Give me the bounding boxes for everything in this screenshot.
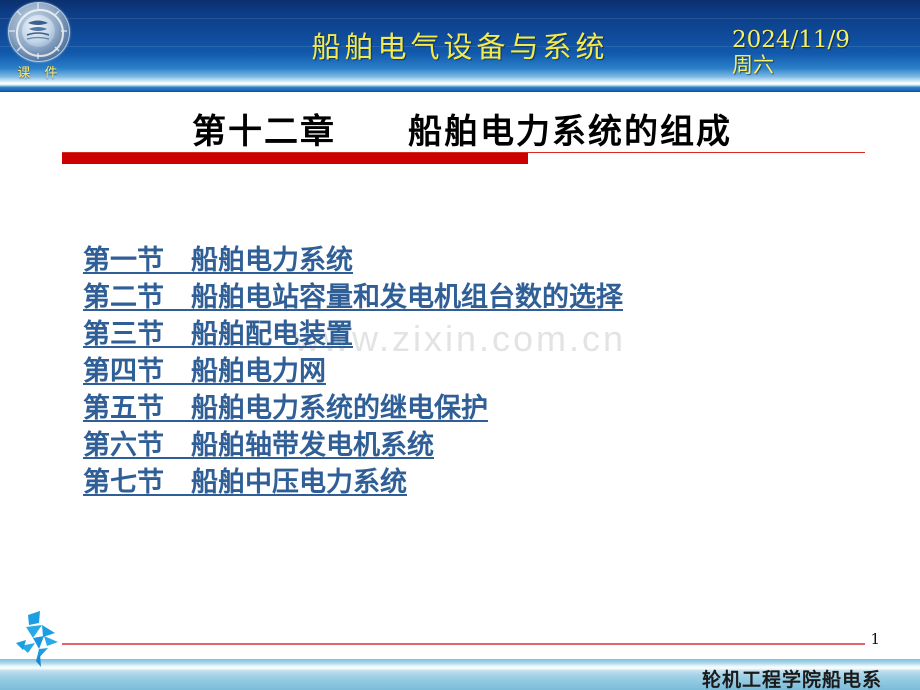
- page-number: 1: [870, 630, 880, 648]
- page-title: 第十二章 船舶电力系统的组成: [62, 104, 862, 153]
- section-link-5[interactable]: 第五节 船舶电力系统的继电保护: [83, 391, 488, 427]
- section-link-7[interactable]: 第七节 船舶中压电力系统: [83, 465, 407, 501]
- header-highlight-line-1: [0, 18, 920, 19]
- footer-rule: [62, 643, 865, 645]
- header-date: 2024/11/9 周六: [732, 28, 912, 78]
- department-name: 轮机工程学院船电系: [702, 665, 882, 690]
- runner-tangram-logo: [6, 605, 72, 671]
- section-link-3[interactable]: 第三节 船舶配电装置: [83, 317, 353, 353]
- section-link-2[interactable]: 第二节 船舶电站容量和发电机组台数的选择: [83, 280, 623, 316]
- section-link-list: 第一节 船舶电力系统 第二节 船舶电站容量和发电机组台数的选择 第三节 船舶配电…: [83, 243, 873, 502]
- header-day-of-week: 周六: [732, 53, 912, 78]
- presentation-slide: 课 件 船舶电气设备与系统 2024/11/9 周六 第十二章 船舶电力系统的组…: [0, 0, 920, 690]
- section-link-6[interactable]: 第六节 船舶轴带发电机系统: [83, 428, 434, 464]
- university-emblem: [8, 2, 70, 62]
- emblem-wave-mark: [24, 16, 52, 44]
- title-accent-bar: [62, 153, 528, 164]
- section-link-1[interactable]: 第一节 船舶电力系统: [83, 243, 353, 279]
- header-date-value: 2024/11/9: [732, 27, 850, 53]
- section-link-4[interactable]: 第四节 船舶电力网: [83, 354, 326, 390]
